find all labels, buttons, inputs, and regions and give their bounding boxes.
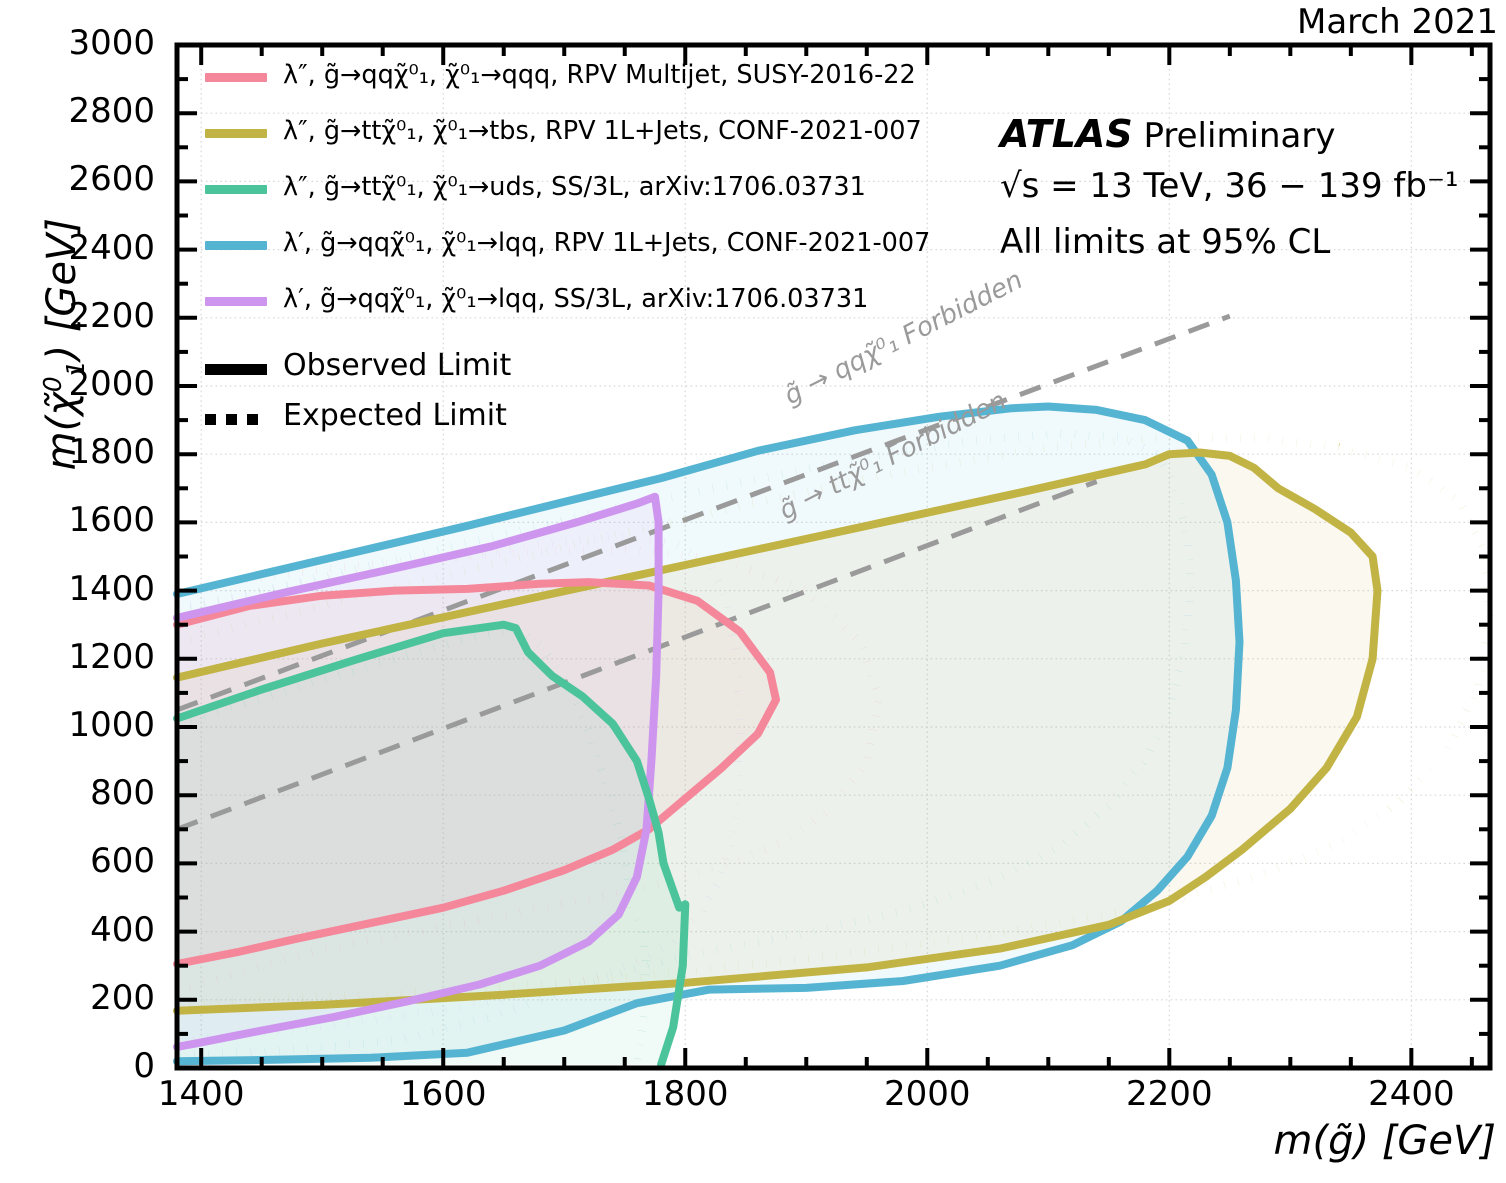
x-tick-label: 2200 <box>1089 1074 1249 1114</box>
energy-luminosity-label: √s = 13 TeV, 36 − 139 fb⁻¹ <box>1000 166 1459 206</box>
legend-swatch-observed <box>205 364 267 375</box>
y-tick-label: 1000 <box>5 705 155 745</box>
y-tick-label: 800 <box>5 773 155 813</box>
y-tick-label: 2000 <box>5 364 155 404</box>
x-tick-label: 1400 <box>121 1074 281 1114</box>
confidence-level-label: All limits at 95% CL <box>1000 222 1330 262</box>
y-tick-label: 400 <box>5 910 155 950</box>
legend-label-multijet: λ″, g̃→qqχ̃⁰₁, χ̃⁰₁→qqq, RPV Multijet, S… <box>283 60 916 90</box>
y-tick-label: 200 <box>5 978 155 1018</box>
legend-swatch-expected <box>205 414 267 425</box>
legend-swatch-tbs_1l <box>205 129 267 138</box>
x-tick-label: 2000 <box>847 1074 1007 1114</box>
legend-label-expected: Expected Limit <box>283 398 507 433</box>
legend-swatch-uds_ss3l <box>205 185 267 194</box>
y-tick-label: 2800 <box>5 91 155 131</box>
legend-label-uds_ss3l: λ″, g̃→ttχ̃⁰₁, χ̃⁰₁→uds, SS/3L, arXiv:17… <box>283 172 866 202</box>
x-axis-title: m(g̃) [GeV] <box>1274 1118 1496 1164</box>
y-tick-label: 600 <box>5 841 155 881</box>
y-tick-label: 1800 <box>5 432 155 472</box>
y-tick-label: 1400 <box>5 569 155 609</box>
y-tick-label: 2200 <box>5 296 155 336</box>
legend-swatch-lqq_1l <box>205 241 267 250</box>
y-tick-label: 1600 <box>5 500 155 540</box>
x-tick-label: 1600 <box>363 1074 523 1114</box>
y-tick-label: 2600 <box>5 159 155 199</box>
atlas-preliminary-label: ATLAS Preliminary <box>1000 112 1336 156</box>
y-tick-label: 3000 <box>5 23 155 63</box>
x-tick-label: 1800 <box>605 1074 765 1114</box>
y-tick-label: 2400 <box>5 228 155 268</box>
legend-label-tbs_1l: λ″, g̃→ttχ̃⁰₁, χ̃⁰₁→tbs, RPV 1L+Jets, CO… <box>283 116 922 146</box>
legend-swatch-multijet <box>205 73 267 82</box>
legend-label-lqq_ss3l: λ′, g̃→qqχ̃⁰₁, χ̃⁰₁→lqq, SS/3L, arXiv:17… <box>283 284 868 314</box>
legend-label-lqq_1l: λ′, g̃→qqχ̃⁰₁, χ̃⁰₁→lqq, RPV 1L+Jets, CO… <box>283 228 930 258</box>
x-tick-label: 2400 <box>1331 1074 1491 1114</box>
legend-swatch-lqq_ss3l <box>205 297 267 306</box>
atlas-exclusion-plot: March 2021 g̃ → qqχ̃⁰₁ Forbiddeng̃ → ttχ… <box>0 0 1506 1183</box>
y-tick-label: 1200 <box>5 637 155 677</box>
legend-label-observed: Observed Limit <box>283 348 511 383</box>
y-axis-title: m(χ̃01) [GeV] <box>38 44 90 644</box>
